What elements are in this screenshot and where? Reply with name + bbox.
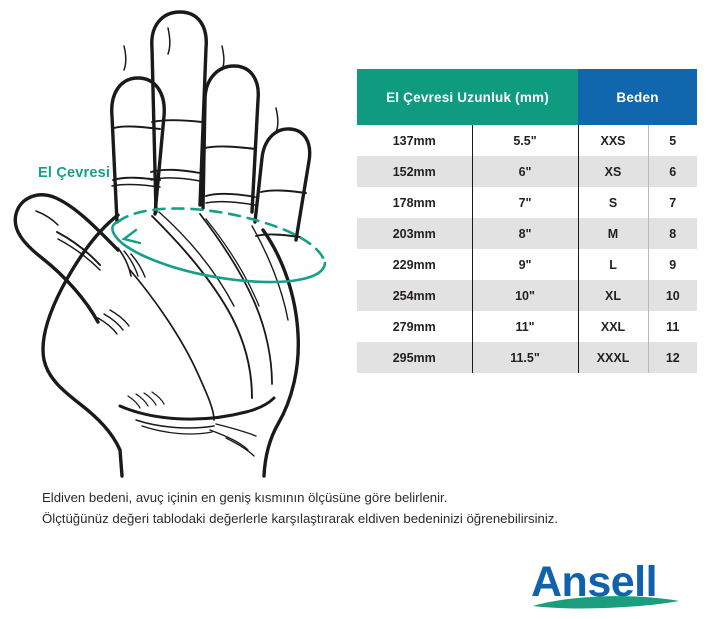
table-body: 137mm5.5"XXS5152mm6"XS6178mm7"S7203mm8"M…: [357, 125, 697, 373]
cell-number: 10: [648, 280, 697, 311]
glove-size-table: El Çevresi Uzunluk (mm) Beden 137mm5.5"X…: [357, 69, 697, 373]
cell-mm: 152mm: [357, 156, 472, 187]
cell-size: XXXL: [578, 342, 648, 373]
cell-number: 8: [648, 218, 697, 249]
instruction-line-1: Eldiven bedeni, avuç içinin en geniş kıs…: [42, 487, 682, 508]
cell-inch: 5.5": [472, 125, 578, 156]
cell-number: 7: [648, 187, 697, 218]
table-row: 254mm10"XL10: [357, 280, 697, 311]
cell-inch: 11": [472, 311, 578, 342]
cell-number: 9: [648, 249, 697, 280]
measure-ellipse-front-arc: [112, 222, 325, 282]
cell-mm: 295mm: [357, 342, 472, 373]
table-row: 279mm11"XXL11: [357, 311, 697, 342]
cell-size: XXL: [578, 311, 648, 342]
cell-size: XXS: [578, 125, 648, 156]
table-row: 137mm5.5"XXS5: [357, 125, 697, 156]
cell-mm: 229mm: [357, 249, 472, 280]
table-row: 203mm8"M8: [357, 218, 697, 249]
cell-size: S: [578, 187, 648, 218]
header-size: Beden: [578, 69, 697, 125]
hand-diagram-svg: [0, 0, 350, 490]
cell-size: XL: [578, 280, 648, 311]
cell-mm: 137mm: [357, 125, 472, 156]
ansell-logo: Ansell: [529, 556, 689, 612]
table-header-row: El Çevresi Uzunluk (mm) Beden: [357, 69, 697, 125]
cell-inch: 7": [472, 187, 578, 218]
table-row: 295mm11.5"XXXL12: [357, 342, 697, 373]
cell-number: 5: [648, 125, 697, 156]
cell-mm: 279mm: [357, 311, 472, 342]
cell-size: L: [578, 249, 648, 280]
header-hand-circumference: El Çevresi Uzunluk (mm): [357, 69, 578, 125]
cell-inch: 9": [472, 249, 578, 280]
cell-mm: 254mm: [357, 280, 472, 311]
cell-size: XS: [578, 156, 648, 187]
cell-inch: 6": [472, 156, 578, 187]
cell-number: 11: [648, 311, 697, 342]
ansell-logo-svg: Ansell: [529, 556, 689, 612]
cell-inch: 10": [472, 280, 578, 311]
hand-measurement-illustration: El Çevresi: [0, 0, 350, 490]
measure-ellipse-arrowhead: [124, 230, 140, 243]
measurement-instructions: Eldiven bedeni, avuç içinin en geniş kıs…: [42, 487, 682, 529]
cell-number: 12: [648, 342, 697, 373]
cell-inch: 8": [472, 218, 578, 249]
cell-number: 6: [648, 156, 697, 187]
cell-inch: 11.5": [472, 342, 578, 373]
table-row: 152mm6"XS6: [357, 156, 697, 187]
cell-mm: 178mm: [357, 187, 472, 218]
table-row: 229mm9"L9: [357, 249, 697, 280]
cell-size: M: [578, 218, 648, 249]
instruction-line-2: Ölçtüğünüz değeri tablodaki değerlerle k…: [42, 508, 682, 529]
hand-circumference-label: El Çevresi: [38, 165, 110, 181]
table-row: 178mm7"S7: [357, 187, 697, 218]
cell-mm: 203mm: [357, 218, 472, 249]
